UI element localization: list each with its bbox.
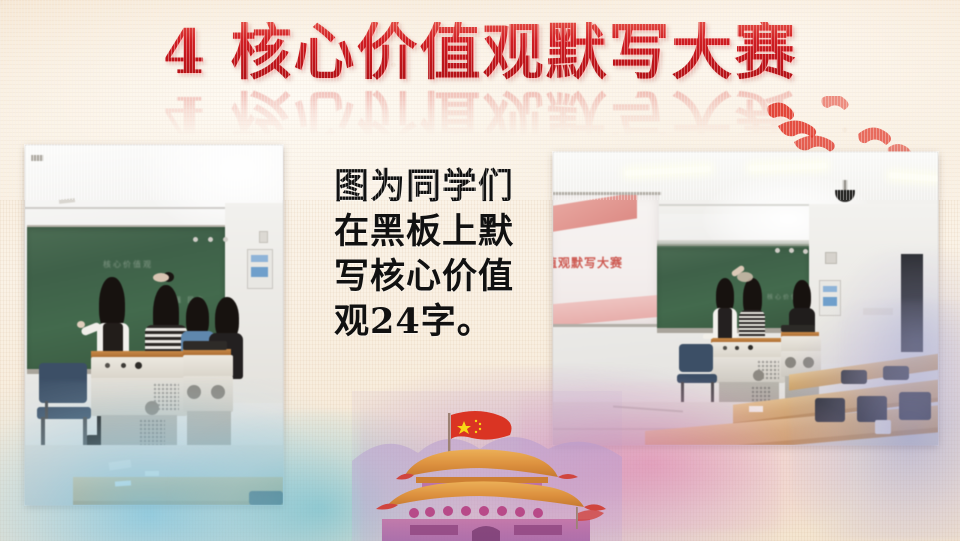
projector-text: 值观默写大赛 [553,254,623,271]
page-title: 4 核心价值观默写大赛 [163,22,798,84]
projection-screen: 值观默写大赛 [553,194,659,326]
photo-left-scene: 核心价值观 富强 民主 [25,145,283,505]
page-title-reflection: 4 核心价值观默写大赛 [163,86,798,148]
caption-text: 图为同学们在黑板上默写核心价值观24字。 [334,164,539,344]
chalk-writing: 核心价值观 [103,259,153,270]
photo-left: 核心价值观 富强 民主 [25,145,283,505]
tiananmen-gate-icon [352,391,622,541]
wash-right-violet-upper [840,250,960,430]
slide-root: 4 核心价值观默写大赛 4 核心价值观默写大赛 [0,0,960,541]
